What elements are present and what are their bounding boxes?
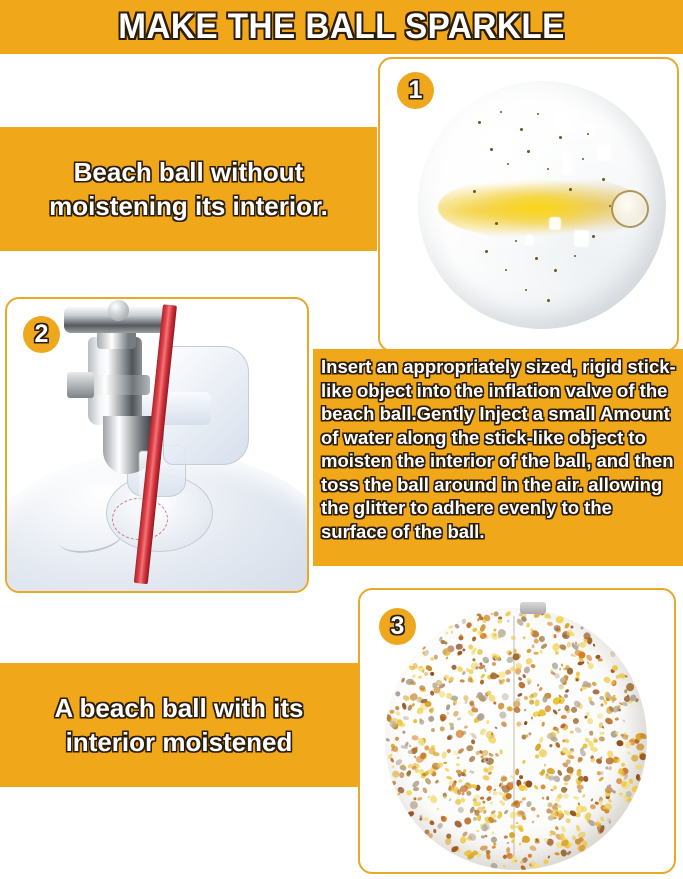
confetti-speck bbox=[457, 779, 462, 784]
confetti-speck bbox=[534, 699, 540, 707]
confetti-speck bbox=[491, 832, 494, 835]
confetti-speck bbox=[546, 621, 553, 626]
confetti-speck bbox=[472, 636, 478, 642]
confetti-speck bbox=[563, 793, 569, 799]
confetti-speck bbox=[555, 651, 559, 655]
confetti-speck bbox=[522, 637, 526, 640]
confetti-speck bbox=[400, 764, 405, 770]
glitter-speck bbox=[520, 128, 523, 131]
confetti-speck bbox=[438, 725, 445, 732]
header-banner: MAKE THE BALL SPARKLE bbox=[0, 0, 683, 54]
page-title: MAKE THE BALL SPARKLE bbox=[17, 4, 666, 50]
confetti-speck bbox=[493, 819, 497, 823]
glitter-speck bbox=[507, 163, 509, 165]
confetti-speck bbox=[542, 696, 548, 703]
confetti-speck bbox=[519, 864, 526, 870]
ball-highlight bbox=[584, 123, 595, 137]
confetti-speck bbox=[527, 854, 532, 859]
confetti-speck bbox=[483, 809, 487, 814]
confetti-speck bbox=[463, 695, 469, 702]
confetti-speck bbox=[539, 635, 546, 643]
instruction-text: Insert an appropriately sized, rigid sti… bbox=[321, 355, 677, 543]
confetti-speck bbox=[622, 719, 625, 723]
confetti-speck bbox=[389, 711, 394, 715]
beach-ball-glittered bbox=[385, 608, 647, 870]
confetti-speck bbox=[539, 686, 543, 690]
confetti-speck bbox=[479, 679, 484, 685]
confetti-speck bbox=[444, 762, 448, 764]
confetti-speck bbox=[618, 673, 625, 679]
confetti-speck bbox=[636, 743, 644, 750]
confetti-speck bbox=[502, 865, 506, 868]
confetti-speck bbox=[504, 835, 508, 839]
confetti-speck bbox=[570, 730, 574, 734]
ball-highlight bbox=[554, 111, 570, 131]
confetti-speck bbox=[561, 715, 567, 719]
confetti-speck bbox=[423, 817, 429, 821]
confetti-speck bbox=[555, 741, 561, 748]
confetti-speck bbox=[615, 731, 619, 735]
confetti-speck bbox=[499, 750, 503, 755]
confetti-speck bbox=[602, 806, 605, 809]
confetti-speck bbox=[504, 611, 511, 618]
confetti-speck bbox=[462, 648, 466, 652]
step-badge-2-number: 2 bbox=[35, 322, 49, 347]
step-badge-3-number: 3 bbox=[391, 614, 405, 639]
confetti-speck bbox=[530, 806, 536, 811]
confetti-speck bbox=[412, 718, 417, 723]
confetti-speck bbox=[500, 693, 508, 701]
glitter-speck bbox=[505, 269, 507, 271]
confetti-speck bbox=[430, 671, 435, 676]
confetti-speck bbox=[436, 808, 440, 811]
step-badge-1: 1 bbox=[397, 72, 434, 109]
confetti-speck bbox=[518, 826, 524, 833]
confetti-speck bbox=[514, 768, 519, 776]
confetti-speck bbox=[434, 654, 438, 659]
confetti-speck bbox=[456, 763, 460, 767]
confetti-speck bbox=[466, 744, 474, 752]
confetti-speck bbox=[480, 673, 485, 678]
confetti-speck bbox=[453, 819, 463, 829]
confetti-speck bbox=[446, 748, 451, 753]
confetti-speck bbox=[436, 821, 444, 829]
confetti-speck bbox=[627, 751, 632, 755]
confetti-speck bbox=[481, 836, 485, 839]
confetti-speck bbox=[412, 674, 417, 679]
confetti-speck bbox=[463, 773, 467, 777]
glitter-speck bbox=[478, 121, 481, 124]
confetti-speck bbox=[489, 673, 497, 680]
confetti-speck bbox=[553, 634, 556, 638]
glitter-speck bbox=[535, 257, 538, 260]
confetti-speck bbox=[413, 787, 419, 791]
ball-highlight bbox=[525, 235, 534, 246]
confetti-speck bbox=[451, 630, 453, 634]
confetti-speck bbox=[548, 855, 551, 858]
faucet-side-nut bbox=[67, 372, 94, 398]
confetti-speck bbox=[589, 804, 596, 810]
confetti-speck bbox=[500, 720, 507, 727]
glitter-speck bbox=[602, 178, 605, 181]
confetti-speck bbox=[600, 731, 605, 735]
confetti-speck bbox=[519, 801, 522, 804]
confetti-speck bbox=[476, 613, 482, 617]
confetti-speck bbox=[497, 702, 506, 711]
confetti-speck bbox=[444, 796, 446, 799]
confetti-speck bbox=[476, 830, 479, 832]
confetti-speck bbox=[456, 717, 461, 721]
caption-bottom-text: A beach ball with its interior moistened bbox=[0, 691, 358, 759]
confetti-speck bbox=[459, 679, 464, 683]
instruction-block: Insert an appropriately sized, rigid sti… bbox=[313, 349, 683, 566]
confetti-speck bbox=[484, 668, 488, 672]
confetti-speck bbox=[395, 691, 401, 697]
confetti-speck bbox=[599, 800, 602, 806]
confetti-speck bbox=[394, 736, 400, 742]
confetti-speck bbox=[611, 696, 617, 701]
confetti-speck bbox=[589, 731, 594, 736]
confetti-speck bbox=[553, 625, 560, 631]
confetti-speck bbox=[506, 842, 509, 845]
confetti-speck bbox=[580, 626, 584, 630]
confetti-speck bbox=[469, 770, 475, 774]
confetti-speck bbox=[473, 802, 481, 807]
confetti-speck bbox=[503, 809, 509, 815]
glitter-speck bbox=[485, 250, 488, 253]
confetti-speck bbox=[526, 649, 532, 655]
confetti-speck bbox=[410, 800, 419, 809]
confetti-speck bbox=[445, 657, 448, 661]
glitter-speck bbox=[527, 150, 530, 153]
glitter-speck bbox=[515, 240, 517, 242]
glitter-speck bbox=[592, 235, 595, 238]
confetti-speck bbox=[450, 664, 456, 670]
confetti-speck bbox=[600, 703, 604, 707]
confetti-speck bbox=[490, 862, 499, 870]
confetti-speck bbox=[403, 715, 409, 719]
confetti-speck bbox=[571, 642, 575, 647]
confetti-speck bbox=[448, 798, 452, 802]
confetti-speck bbox=[457, 757, 460, 760]
caption-block-bottom: A beach ball with its interior moistened bbox=[0, 663, 358, 787]
confetti-speck bbox=[467, 755, 476, 764]
glitter-speck bbox=[582, 158, 584, 160]
confetti-speck bbox=[497, 619, 502, 624]
glitter-speck bbox=[537, 113, 539, 115]
step-badge-3: 3 bbox=[379, 608, 416, 645]
confetti-speck bbox=[513, 648, 516, 653]
ball-highlight bbox=[597, 145, 611, 161]
confetti-speck bbox=[631, 784, 639, 793]
confetti-speck bbox=[389, 757, 394, 763]
confetti-speck bbox=[596, 711, 604, 719]
confetti-speck bbox=[575, 839, 581, 845]
confetti-speck bbox=[522, 760, 526, 765]
confetti-speck bbox=[406, 791, 412, 796]
panel-step-1: 1 bbox=[378, 57, 679, 352]
step-badge-1-number: 1 bbox=[409, 78, 423, 103]
confetti-speck bbox=[554, 852, 559, 856]
confetti-speck bbox=[624, 689, 628, 693]
confetti-speck bbox=[557, 709, 561, 712]
confetti-speck bbox=[431, 728, 436, 733]
confetti-speck bbox=[639, 753, 647, 762]
step-badge-2: 2 bbox=[23, 316, 60, 353]
confetti-speck bbox=[429, 821, 435, 826]
confetti-speck bbox=[399, 772, 404, 778]
confetti-speck bbox=[604, 717, 614, 726]
confetti-speck bbox=[564, 818, 571, 825]
glitter-speck bbox=[559, 136, 562, 139]
confetti-speck bbox=[534, 784, 539, 789]
confetti-speck bbox=[575, 824, 581, 831]
confetti-speck bbox=[540, 650, 543, 655]
confetti-speck bbox=[448, 625, 453, 629]
confetti-speck bbox=[551, 789, 555, 792]
confetti-speck bbox=[588, 700, 595, 707]
confetti-speck bbox=[418, 675, 422, 678]
confetti-speck bbox=[400, 722, 406, 728]
confetti-speck bbox=[522, 797, 527, 801]
confetti-speck bbox=[385, 738, 390, 743]
confetti-speck bbox=[530, 663, 536, 668]
confetti-speck bbox=[602, 726, 605, 729]
confetti-speck bbox=[402, 730, 406, 734]
glitter-speck bbox=[490, 148, 493, 151]
confetti-speck bbox=[518, 843, 521, 846]
confetti-speck bbox=[492, 845, 496, 849]
glitter-speck bbox=[473, 190, 476, 193]
confetti-speck bbox=[536, 755, 540, 758]
glitter-speck bbox=[525, 289, 527, 291]
confetti-speck bbox=[524, 720, 528, 724]
ball-highlight bbox=[574, 230, 589, 247]
inflation-valve bbox=[611, 190, 649, 228]
confetti-speck bbox=[402, 694, 410, 701]
confetti-speck bbox=[391, 780, 396, 785]
confetti-speck bbox=[517, 693, 523, 698]
confetti-speck bbox=[531, 821, 534, 825]
confetti-speck bbox=[529, 845, 537, 852]
confetti-speck bbox=[454, 623, 460, 629]
confetti-speck bbox=[560, 825, 567, 833]
confetti-speck bbox=[543, 859, 549, 865]
confetti-speck bbox=[562, 739, 565, 742]
confetti-speck bbox=[574, 726, 582, 734]
confetti-speck bbox=[400, 677, 405, 683]
confetti-speck bbox=[492, 790, 498, 795]
confetti-speck bbox=[624, 740, 633, 749]
confetti-speck bbox=[494, 726, 498, 729]
confetti-speck bbox=[561, 663, 564, 667]
confetti-speck bbox=[579, 641, 587, 648]
confetti-speck bbox=[599, 797, 602, 800]
confetti-speck bbox=[531, 645, 534, 649]
confetti-speck bbox=[575, 679, 579, 683]
confetti-speck bbox=[486, 720, 490, 725]
confetti-speck bbox=[593, 644, 596, 647]
confetti-speck bbox=[445, 704, 451, 711]
confetti-speck bbox=[488, 800, 494, 805]
confetti-speck bbox=[416, 747, 418, 750]
confetti-speck bbox=[616, 739, 624, 746]
confetti-speck bbox=[537, 684, 540, 687]
confetti-speck bbox=[590, 798, 593, 802]
confetti-speck bbox=[407, 811, 415, 818]
panel-step-2: 2 bbox=[5, 297, 309, 593]
confetti-speck bbox=[409, 744, 413, 748]
confetti-speck bbox=[506, 619, 510, 623]
confetti-speck bbox=[395, 710, 401, 715]
confetti-speck bbox=[612, 790, 617, 795]
confetti-speck bbox=[555, 825, 559, 830]
confetti-speck bbox=[572, 717, 579, 724]
confetti-speck bbox=[597, 775, 604, 782]
confetti-speck bbox=[434, 780, 439, 785]
confetti-speck bbox=[519, 860, 524, 865]
confetti-speck bbox=[636, 764, 643, 769]
confetti-speck bbox=[476, 667, 479, 670]
confetti-speck bbox=[465, 621, 472, 629]
confetti-speck bbox=[563, 783, 567, 786]
caption-block-top: Beach ball without moistening its interi… bbox=[0, 127, 377, 251]
confetti-speck bbox=[423, 671, 429, 677]
confetti-speck bbox=[526, 624, 529, 628]
confetti-speck bbox=[391, 765, 395, 769]
confetti-speck bbox=[547, 796, 550, 800]
confetti-speck bbox=[578, 651, 586, 659]
glitter-speck bbox=[554, 269, 557, 272]
confetti-speck bbox=[610, 650, 616, 657]
confetti-speck bbox=[454, 798, 462, 806]
confetti-speck bbox=[433, 829, 436, 833]
faucet-handle-knob bbox=[108, 300, 129, 320]
confetti-speck bbox=[497, 813, 503, 820]
glitter-speck bbox=[569, 188, 572, 191]
confetti-speck bbox=[413, 797, 416, 801]
inflation-nozzle bbox=[520, 602, 546, 614]
confetti-speck bbox=[615, 717, 619, 721]
confetti-speck bbox=[556, 616, 564, 623]
confetti-speck bbox=[573, 795, 579, 800]
confetti-speck bbox=[464, 817, 472, 826]
confetti-speck bbox=[465, 701, 468, 703]
confetti-speck bbox=[517, 681, 526, 690]
glitter-speck bbox=[500, 111, 502, 113]
confetti-speck bbox=[523, 708, 527, 712]
confetti-speck bbox=[550, 744, 554, 748]
beach-ball-dry bbox=[418, 81, 666, 329]
confetti-speck bbox=[521, 815, 528, 822]
confetti-speck bbox=[599, 735, 606, 741]
caption-top-text: Beach ball without moistening its interi… bbox=[0, 155, 377, 223]
confetti-speck bbox=[586, 717, 594, 725]
ball-highlight bbox=[492, 131, 501, 141]
glitter-speck bbox=[587, 133, 589, 135]
confetti-speck bbox=[577, 789, 582, 793]
ball-highlight bbox=[562, 153, 572, 175]
confetti-speck bbox=[516, 720, 523, 727]
confetti-speck bbox=[620, 733, 623, 736]
confetti-speck bbox=[447, 712, 450, 715]
confetti-speck bbox=[608, 820, 611, 823]
confetti-speck bbox=[445, 631, 449, 635]
confetti-speck bbox=[494, 752, 499, 757]
confetti-speck bbox=[482, 800, 486, 804]
confetti-speck bbox=[427, 715, 436, 724]
confetti-speck bbox=[576, 671, 580, 676]
confetti-speck bbox=[523, 696, 528, 701]
confetti-speck bbox=[444, 767, 450, 773]
confetti-speck bbox=[457, 807, 464, 814]
confetti-speck bbox=[446, 736, 451, 741]
confetti-speck bbox=[567, 667, 573, 674]
confetti-speck bbox=[544, 614, 550, 619]
panel-step-3: 3 bbox=[358, 588, 676, 874]
confetti-speck bbox=[544, 764, 546, 767]
confetti-speck bbox=[559, 668, 561, 671]
confetti-speck bbox=[420, 718, 423, 722]
confetti-speck bbox=[564, 689, 569, 694]
confetti-speck bbox=[455, 730, 465, 740]
confetti-speck bbox=[542, 797, 545, 800]
glitter-speck bbox=[547, 168, 549, 170]
confetti-speck bbox=[572, 654, 576, 657]
glitter-speck bbox=[547, 299, 550, 302]
confetti-speck bbox=[506, 678, 511, 683]
confetti-speck bbox=[595, 822, 601, 827]
confetti-speck bbox=[566, 850, 572, 856]
ball-highlight bbox=[549, 217, 561, 230]
confetti-speck bbox=[499, 711, 509, 721]
confetti-speck bbox=[417, 797, 422, 801]
confetti-speck bbox=[540, 784, 547, 791]
confetti-speck bbox=[593, 690, 600, 696]
confetti-speck bbox=[534, 651, 539, 655]
confetti-speck bbox=[536, 815, 539, 818]
confetti-speck bbox=[582, 793, 586, 798]
confetti-speck bbox=[410, 681, 417, 686]
confetti-speck bbox=[605, 766, 609, 770]
confetti-speck bbox=[522, 674, 526, 678]
glitter-speck bbox=[574, 255, 576, 257]
confetti-speck bbox=[422, 787, 428, 794]
confetti-speck bbox=[432, 752, 439, 757]
